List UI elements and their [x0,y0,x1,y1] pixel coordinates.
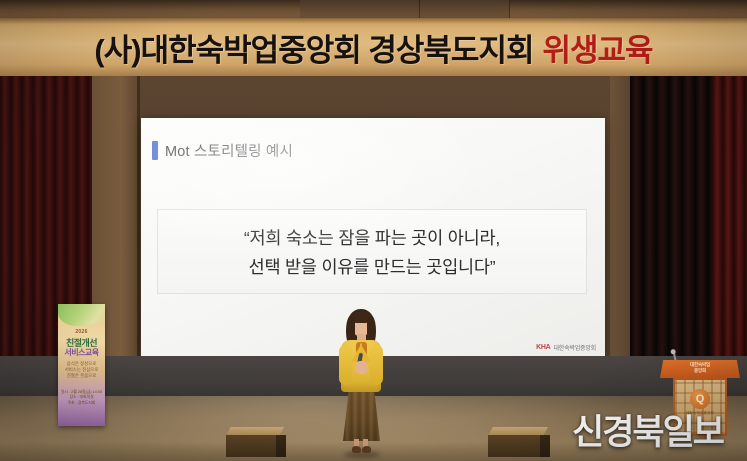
presenter-shoe-right [362,446,371,453]
podium-top-plate: 대한숙박업 중앙회 [660,360,740,378]
curtain-right-red [712,76,747,366]
podium-top-label: 대한숙박업 중앙회 [660,362,740,374]
curtain-right-dark [630,76,712,366]
quote-line-2: 선택 받을 이유를 만드는 곳입니다” [249,254,496,279]
presenter-arm-right [370,345,383,385]
rollup-title-2: 서비스교육 [58,347,105,358]
rollup-footer: 일시 : 2월 28일(금) 14:00 장소 : 대회의실 주최 : 경북도지… [58,390,105,406]
rollup-banner-header [58,304,105,326]
slide-logo-mark: KHA [536,344,550,351]
banner-accent-text: 위생교육 [542,25,652,70]
monitor-side [540,435,550,457]
banner-main-text: (사)대한숙박업중앙회 경상북도지회 [94,25,533,70]
presenter-hands [355,361,368,374]
slide-heading-text: Mot 스토리텔링 예시 [165,140,293,161]
presenter [330,309,392,456]
presenter-shoe-left [352,446,361,453]
quote-line-1: “저희 숙소는 잠을 파는 곳이 아니라, [244,225,500,250]
rollup-subtitle: 음식은 정성으로 서비스는 진심으로 친절은 웃음으로 [58,361,105,379]
stage-monitor-right [488,427,550,459]
monitor-side [276,435,286,457]
wall-panel-right [610,76,630,366]
wall-seam [137,76,140,366]
slide-heading: Mot 스토리텔링 예시 [152,140,293,161]
monitor-face [226,435,276,457]
heading-accent-bar [152,141,158,160]
presenter-skirt-folds [343,389,380,441]
event-banner: (사)대한숙박업중앙회 경상북도지회 위생교육 [0,18,747,76]
presenter-arm-left [339,345,352,385]
slide-quote-box: “저희 숙소는 잠을 파는 곳이 아니라, 선택 받을 이유를 만드는 곳입니다… [157,209,587,294]
rollup-banner: 2026 친절개선 서비스교육 음식은 정성으로 서비스는 진심으로 친절은 웃… [58,304,105,426]
press-watermark: 신경북일보 [572,404,723,455]
event-banner-inner: (사)대한숙박업중앙회 경상북도지회 위생교육 [0,18,747,76]
slide-logo-text: 대한숙박업중앙회 [553,343,596,352]
rollup-year: 2026 [58,329,105,335]
stage-photo-scene: (사)대한숙박업중앙회 경상북도지회 위생교육 Mot 스토리텔링 예시 “저희… [0,0,747,461]
stage-monitor-left [226,427,286,459]
monitor-face [488,435,540,457]
slide-org-logo: KHA 대한숙박업중앙회 [536,343,596,352]
